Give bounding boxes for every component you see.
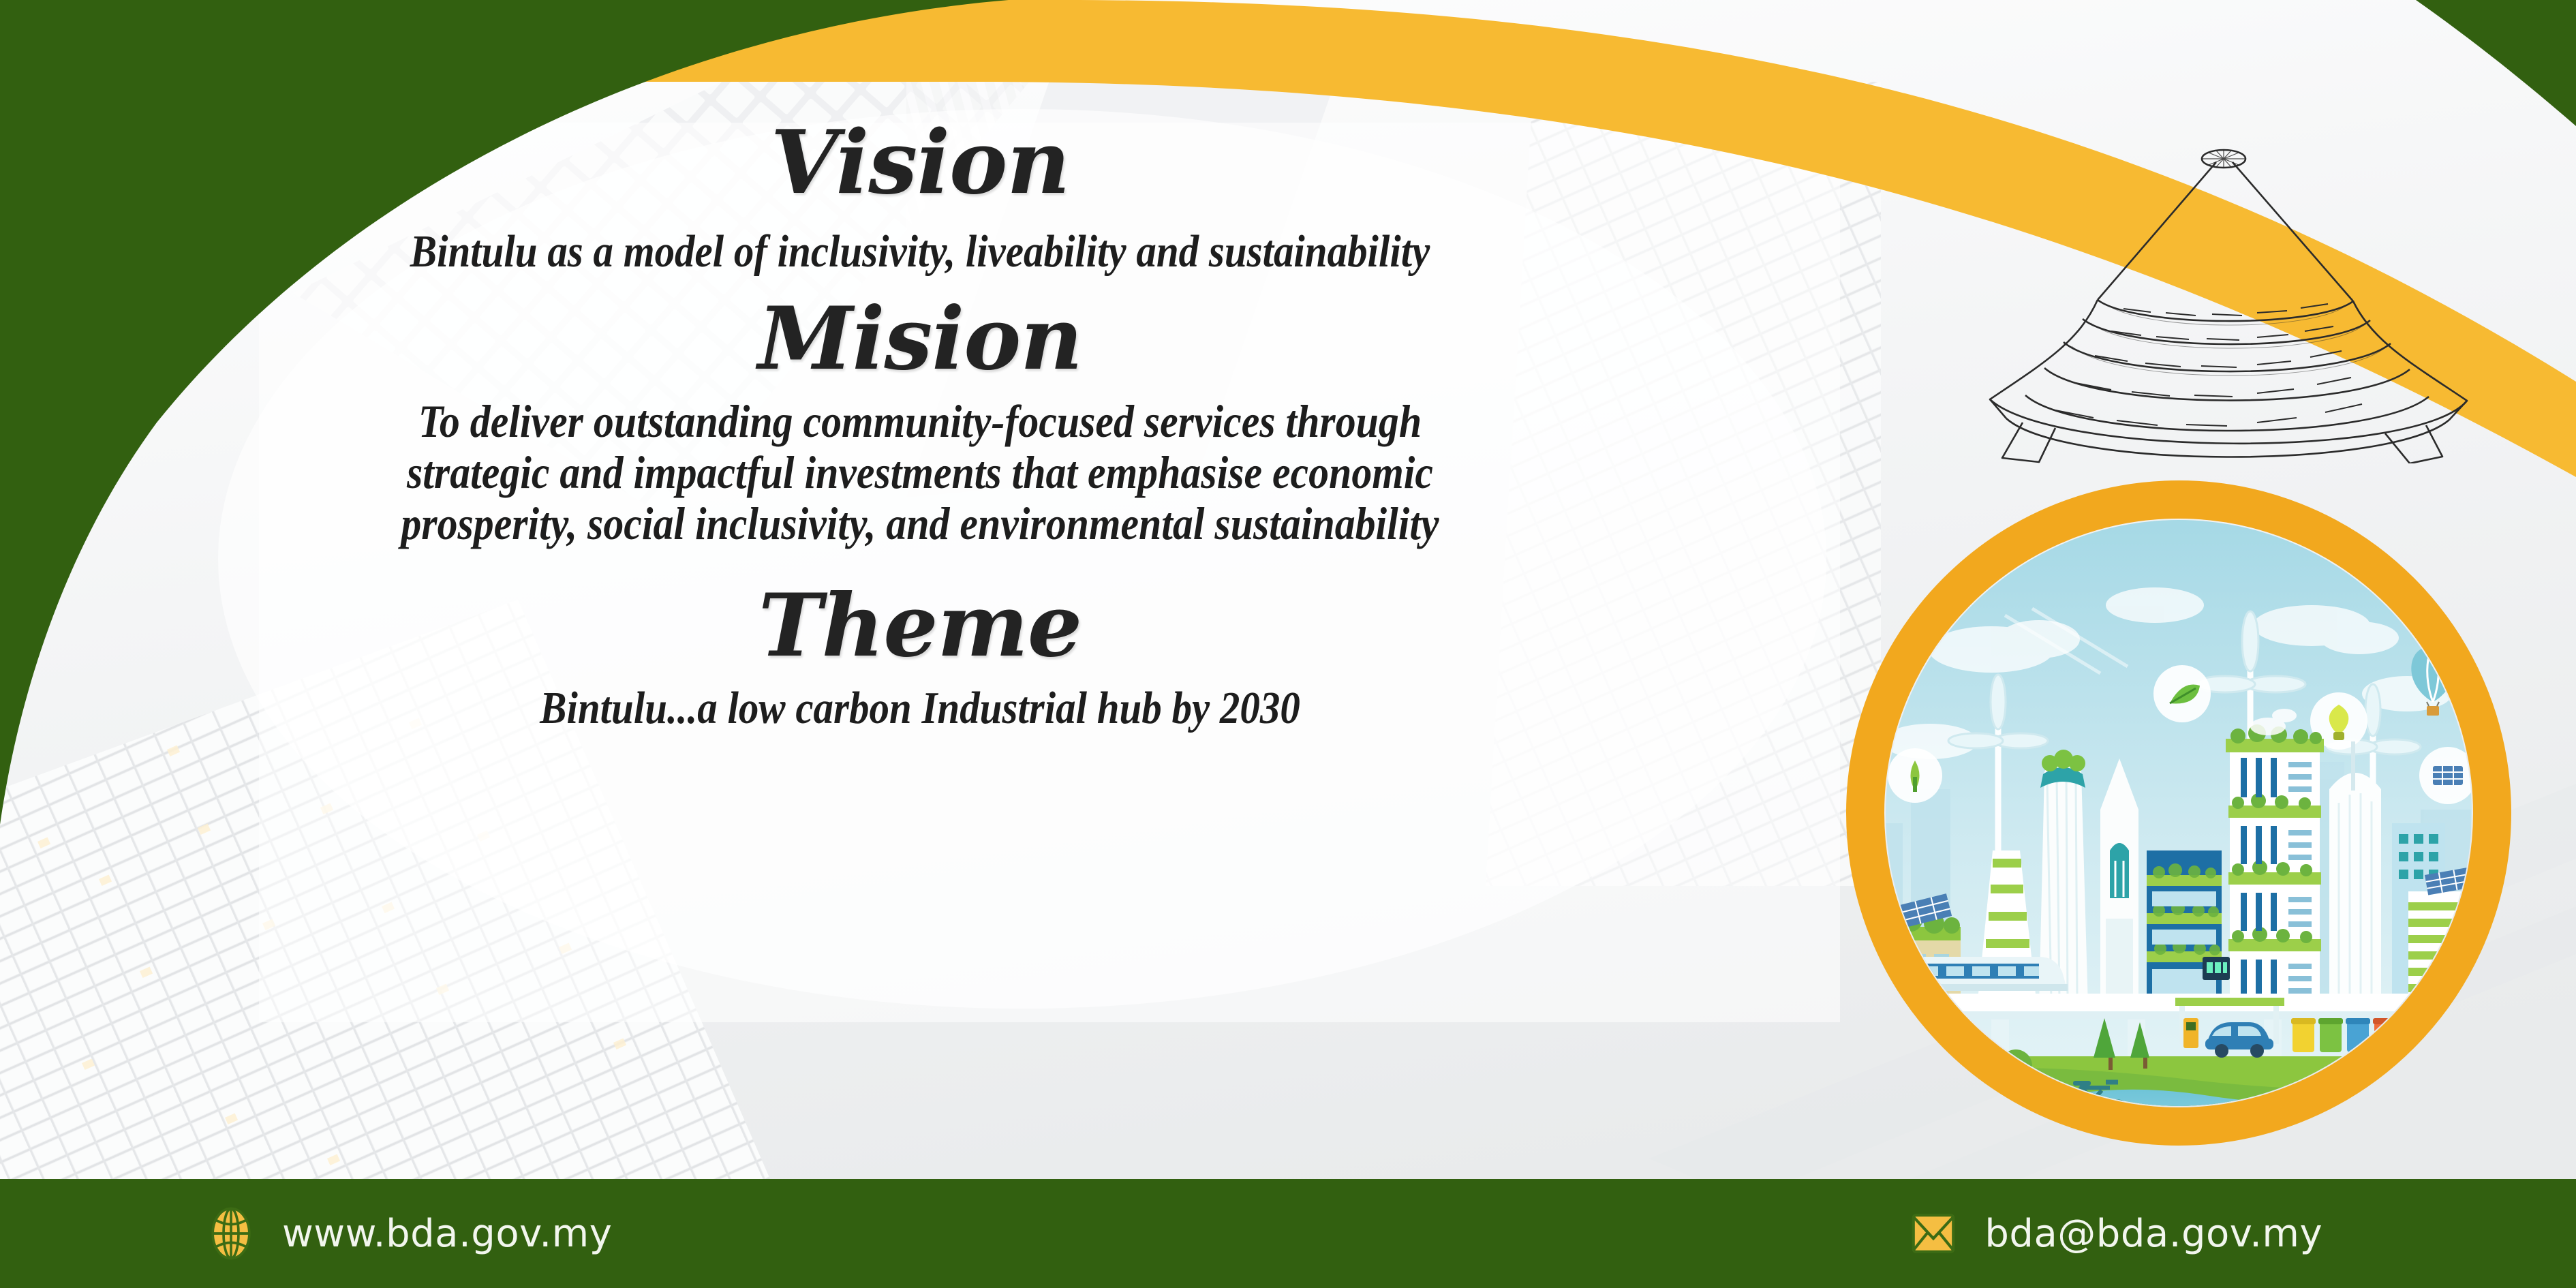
green-corner-sliver-right xyxy=(2416,0,2576,126)
email-contact[interactable]: bda@bda.gov.my xyxy=(1907,1207,2322,1260)
website-url[interactable]: www.bda.gov.my xyxy=(282,1212,612,1256)
globe-icon xyxy=(204,1207,258,1260)
envelope-icon xyxy=(1907,1207,1960,1260)
green-corner-wedge xyxy=(0,0,1009,825)
footer-contact-bar: www.bda.gov.my bda@bda.gov.my xyxy=(0,1179,2576,1288)
email-address[interactable]: bda@bda.gov.my xyxy=(1984,1212,2322,1256)
bda-vision-mision-theme-banner: Vision Bintulu as a model of inclusivity… xyxy=(0,0,2576,1288)
website-contact[interactable]: www.bda.gov.my xyxy=(204,1207,612,1260)
eco-city-illustration xyxy=(1835,469,2523,1157)
